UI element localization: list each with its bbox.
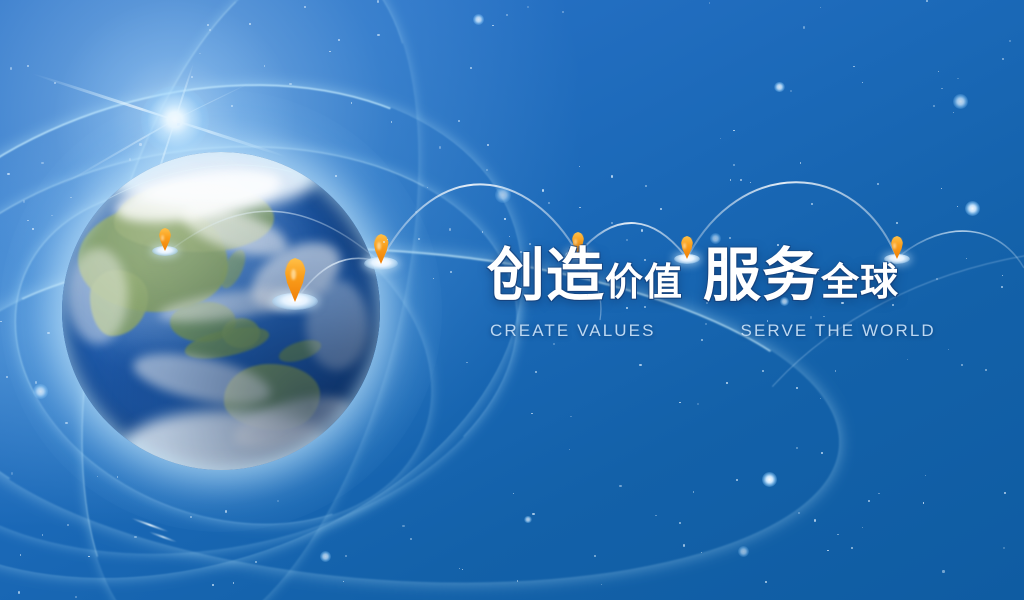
star-dot xyxy=(862,527,863,528)
star-dot xyxy=(619,485,621,487)
star-dot xyxy=(923,502,924,503)
star-dot xyxy=(726,382,728,384)
star-dot xyxy=(579,207,580,208)
star-dot xyxy=(343,581,344,582)
headline-line: 创造 价值 服务 全球 xyxy=(487,247,917,312)
star-dot xyxy=(811,203,813,205)
globe-sphere xyxy=(62,152,380,470)
star-dot xyxy=(289,83,291,85)
star-dot xyxy=(626,239,628,241)
star-dot xyxy=(645,185,647,187)
star-dot xyxy=(473,14,485,26)
location-pin-marker[interactable] xyxy=(364,226,398,270)
star-dot xyxy=(790,90,792,92)
star-dot xyxy=(18,591,20,593)
pin-highlight xyxy=(377,242,381,250)
star-dot xyxy=(11,472,13,474)
star-dot xyxy=(697,403,699,405)
star-dot xyxy=(439,146,441,148)
star-dot xyxy=(762,472,778,488)
star-dot xyxy=(925,475,926,476)
star-dot xyxy=(377,0,379,2)
star-dot xyxy=(1003,547,1004,548)
star-dot xyxy=(936,278,937,279)
star-dot xyxy=(641,229,643,231)
star-dot xyxy=(458,120,460,122)
star-dot xyxy=(320,551,331,562)
star-dot xyxy=(709,2,710,3)
star-dot xyxy=(402,525,404,527)
star-dot xyxy=(531,413,532,414)
star-dot xyxy=(492,25,493,26)
star-dot xyxy=(862,82,863,83)
star-dot xyxy=(548,202,550,204)
earth-globe-graphic xyxy=(62,152,380,470)
star-dot xyxy=(191,76,193,78)
star-dot xyxy=(655,515,656,516)
star-dot xyxy=(693,491,694,492)
star-dot xyxy=(255,561,257,563)
star-dot xyxy=(462,569,463,570)
star-dot xyxy=(762,370,764,372)
star-dot xyxy=(926,0,928,2)
star-dot xyxy=(965,201,981,217)
star-dot xyxy=(814,519,816,521)
star-dot xyxy=(821,452,823,454)
star-dot xyxy=(1002,58,1004,60)
star-dot xyxy=(803,26,805,28)
star-dot xyxy=(23,200,25,202)
star-dot xyxy=(733,164,735,166)
star-dot xyxy=(487,144,488,145)
star-dot xyxy=(579,166,580,167)
star-dot xyxy=(796,387,798,389)
star-dot xyxy=(827,550,828,551)
star-dot xyxy=(800,162,801,163)
star-dot xyxy=(7,173,9,175)
star-dot xyxy=(683,544,685,546)
star-dot xyxy=(878,493,879,494)
subtitle-create-values: CREATE VALUES xyxy=(490,321,656,341)
star-dot xyxy=(1004,492,1005,493)
star-dot xyxy=(351,102,352,103)
star-dot xyxy=(207,24,209,26)
star-dot xyxy=(20,554,21,555)
star-dot xyxy=(953,112,954,113)
star-dot xyxy=(961,364,962,365)
banner-canvas: 创造 价值 服务 全球 CREATE VALUES SERVE THE WORL… xyxy=(0,0,1024,600)
star-dot xyxy=(459,568,460,569)
star-dot xyxy=(470,67,472,69)
star-dot xyxy=(594,555,596,557)
star-dot xyxy=(774,82,784,92)
star-dot xyxy=(740,179,742,181)
star-dot xyxy=(345,555,347,557)
star-dot xyxy=(54,82,56,84)
star-dot xyxy=(729,237,731,239)
star-dot xyxy=(660,208,662,210)
star-dot xyxy=(329,51,330,52)
globe-rim-light xyxy=(62,152,380,470)
star-dot xyxy=(966,258,967,259)
comet-streak xyxy=(148,531,177,544)
star-dot xyxy=(42,534,43,535)
star-dot xyxy=(134,536,136,538)
star-dot xyxy=(733,130,734,131)
star-dot xyxy=(427,187,428,188)
star-dot xyxy=(820,7,821,8)
star-dot xyxy=(513,493,514,494)
star-dot xyxy=(720,138,721,139)
star-dot xyxy=(527,6,529,8)
star-dot xyxy=(517,580,518,581)
star-dot xyxy=(569,449,570,450)
star-dot xyxy=(896,222,898,224)
star-dot xyxy=(639,364,641,366)
star-dot xyxy=(730,179,731,180)
star-dot xyxy=(10,67,12,69)
star-dot xyxy=(837,534,838,535)
star-dot xyxy=(209,29,211,31)
star-dot xyxy=(41,162,43,164)
star-dot xyxy=(304,6,306,8)
star-dot xyxy=(1009,40,1011,42)
star-dot xyxy=(506,14,508,16)
location-pin-marker[interactable] xyxy=(152,222,178,256)
star-dot xyxy=(941,88,942,89)
subtitle-serve-the-world: SERVE THE WORLD xyxy=(741,321,936,341)
star-dot xyxy=(88,556,89,557)
star-dot xyxy=(750,182,751,183)
star-dot xyxy=(6,376,8,378)
headline-phrase-a-small: 价值 xyxy=(605,254,683,312)
star-dot xyxy=(495,187,510,202)
star-dot xyxy=(75,596,76,597)
star-dot xyxy=(738,546,749,557)
star-dot xyxy=(532,513,534,515)
star-dot xyxy=(1001,286,1003,288)
star-dot xyxy=(938,71,939,72)
star-dot xyxy=(562,11,564,13)
star-dot xyxy=(233,582,234,583)
star-dot xyxy=(466,362,467,363)
star-dot xyxy=(948,349,949,350)
star-dot xyxy=(701,552,702,553)
star-dot xyxy=(199,53,200,54)
star-dot xyxy=(482,231,483,232)
star-dot xyxy=(611,175,613,177)
star-dot xyxy=(765,581,767,583)
headline-phrase-b-small: 全球 xyxy=(821,254,899,312)
headline-phrase-a-large: 创造 xyxy=(487,247,605,305)
star-dot xyxy=(27,65,29,67)
star-dot xyxy=(679,402,680,403)
star-dot xyxy=(953,94,968,109)
star-dot xyxy=(553,343,555,345)
star-dot xyxy=(601,584,602,585)
star-dot xyxy=(853,66,854,67)
star-dot xyxy=(611,222,613,224)
star-dot xyxy=(942,570,944,572)
star-dot xyxy=(377,34,379,36)
star-dot xyxy=(868,500,870,502)
star-dot xyxy=(338,39,340,41)
star-dot xyxy=(907,359,908,360)
star-dot xyxy=(249,23,251,25)
star-dot xyxy=(957,206,958,207)
star-dot xyxy=(264,65,265,66)
star-dot xyxy=(820,398,821,399)
headline-block: 创造 价值 服务 全球 CREATE VALUES SERVE THE WORL… xyxy=(487,247,917,343)
location-pin-marker[interactable] xyxy=(272,248,318,310)
star-dot xyxy=(504,218,505,219)
star-dot xyxy=(851,547,853,549)
star-dot xyxy=(450,271,452,273)
star-dot xyxy=(542,189,544,191)
star-dot xyxy=(679,522,681,524)
star-dot xyxy=(524,516,531,523)
pin-highlight xyxy=(291,269,296,280)
star-dot xyxy=(509,236,510,237)
headline-phrase-b-large: 服务 xyxy=(703,247,821,305)
star-dot xyxy=(941,188,942,189)
star-dot xyxy=(67,524,69,526)
star-dot xyxy=(535,371,537,373)
star-dot xyxy=(877,183,879,185)
star-dot xyxy=(798,512,800,514)
star-dot xyxy=(212,584,214,586)
star-dot xyxy=(796,447,798,449)
star-dot xyxy=(985,369,987,371)
star-dot xyxy=(1002,275,1003,276)
star-dot xyxy=(410,538,412,540)
star-dot xyxy=(391,121,392,122)
star-dot xyxy=(957,78,958,79)
pin-highlight xyxy=(161,235,164,241)
star-dot xyxy=(835,370,836,371)
star-dot xyxy=(933,105,935,107)
star-dot xyxy=(449,228,451,230)
subtitle-line: CREATE VALUES SERVE THE WORLD xyxy=(487,321,917,341)
star-dot xyxy=(736,479,738,481)
star-dot xyxy=(570,416,571,417)
star-dot xyxy=(486,169,488,171)
